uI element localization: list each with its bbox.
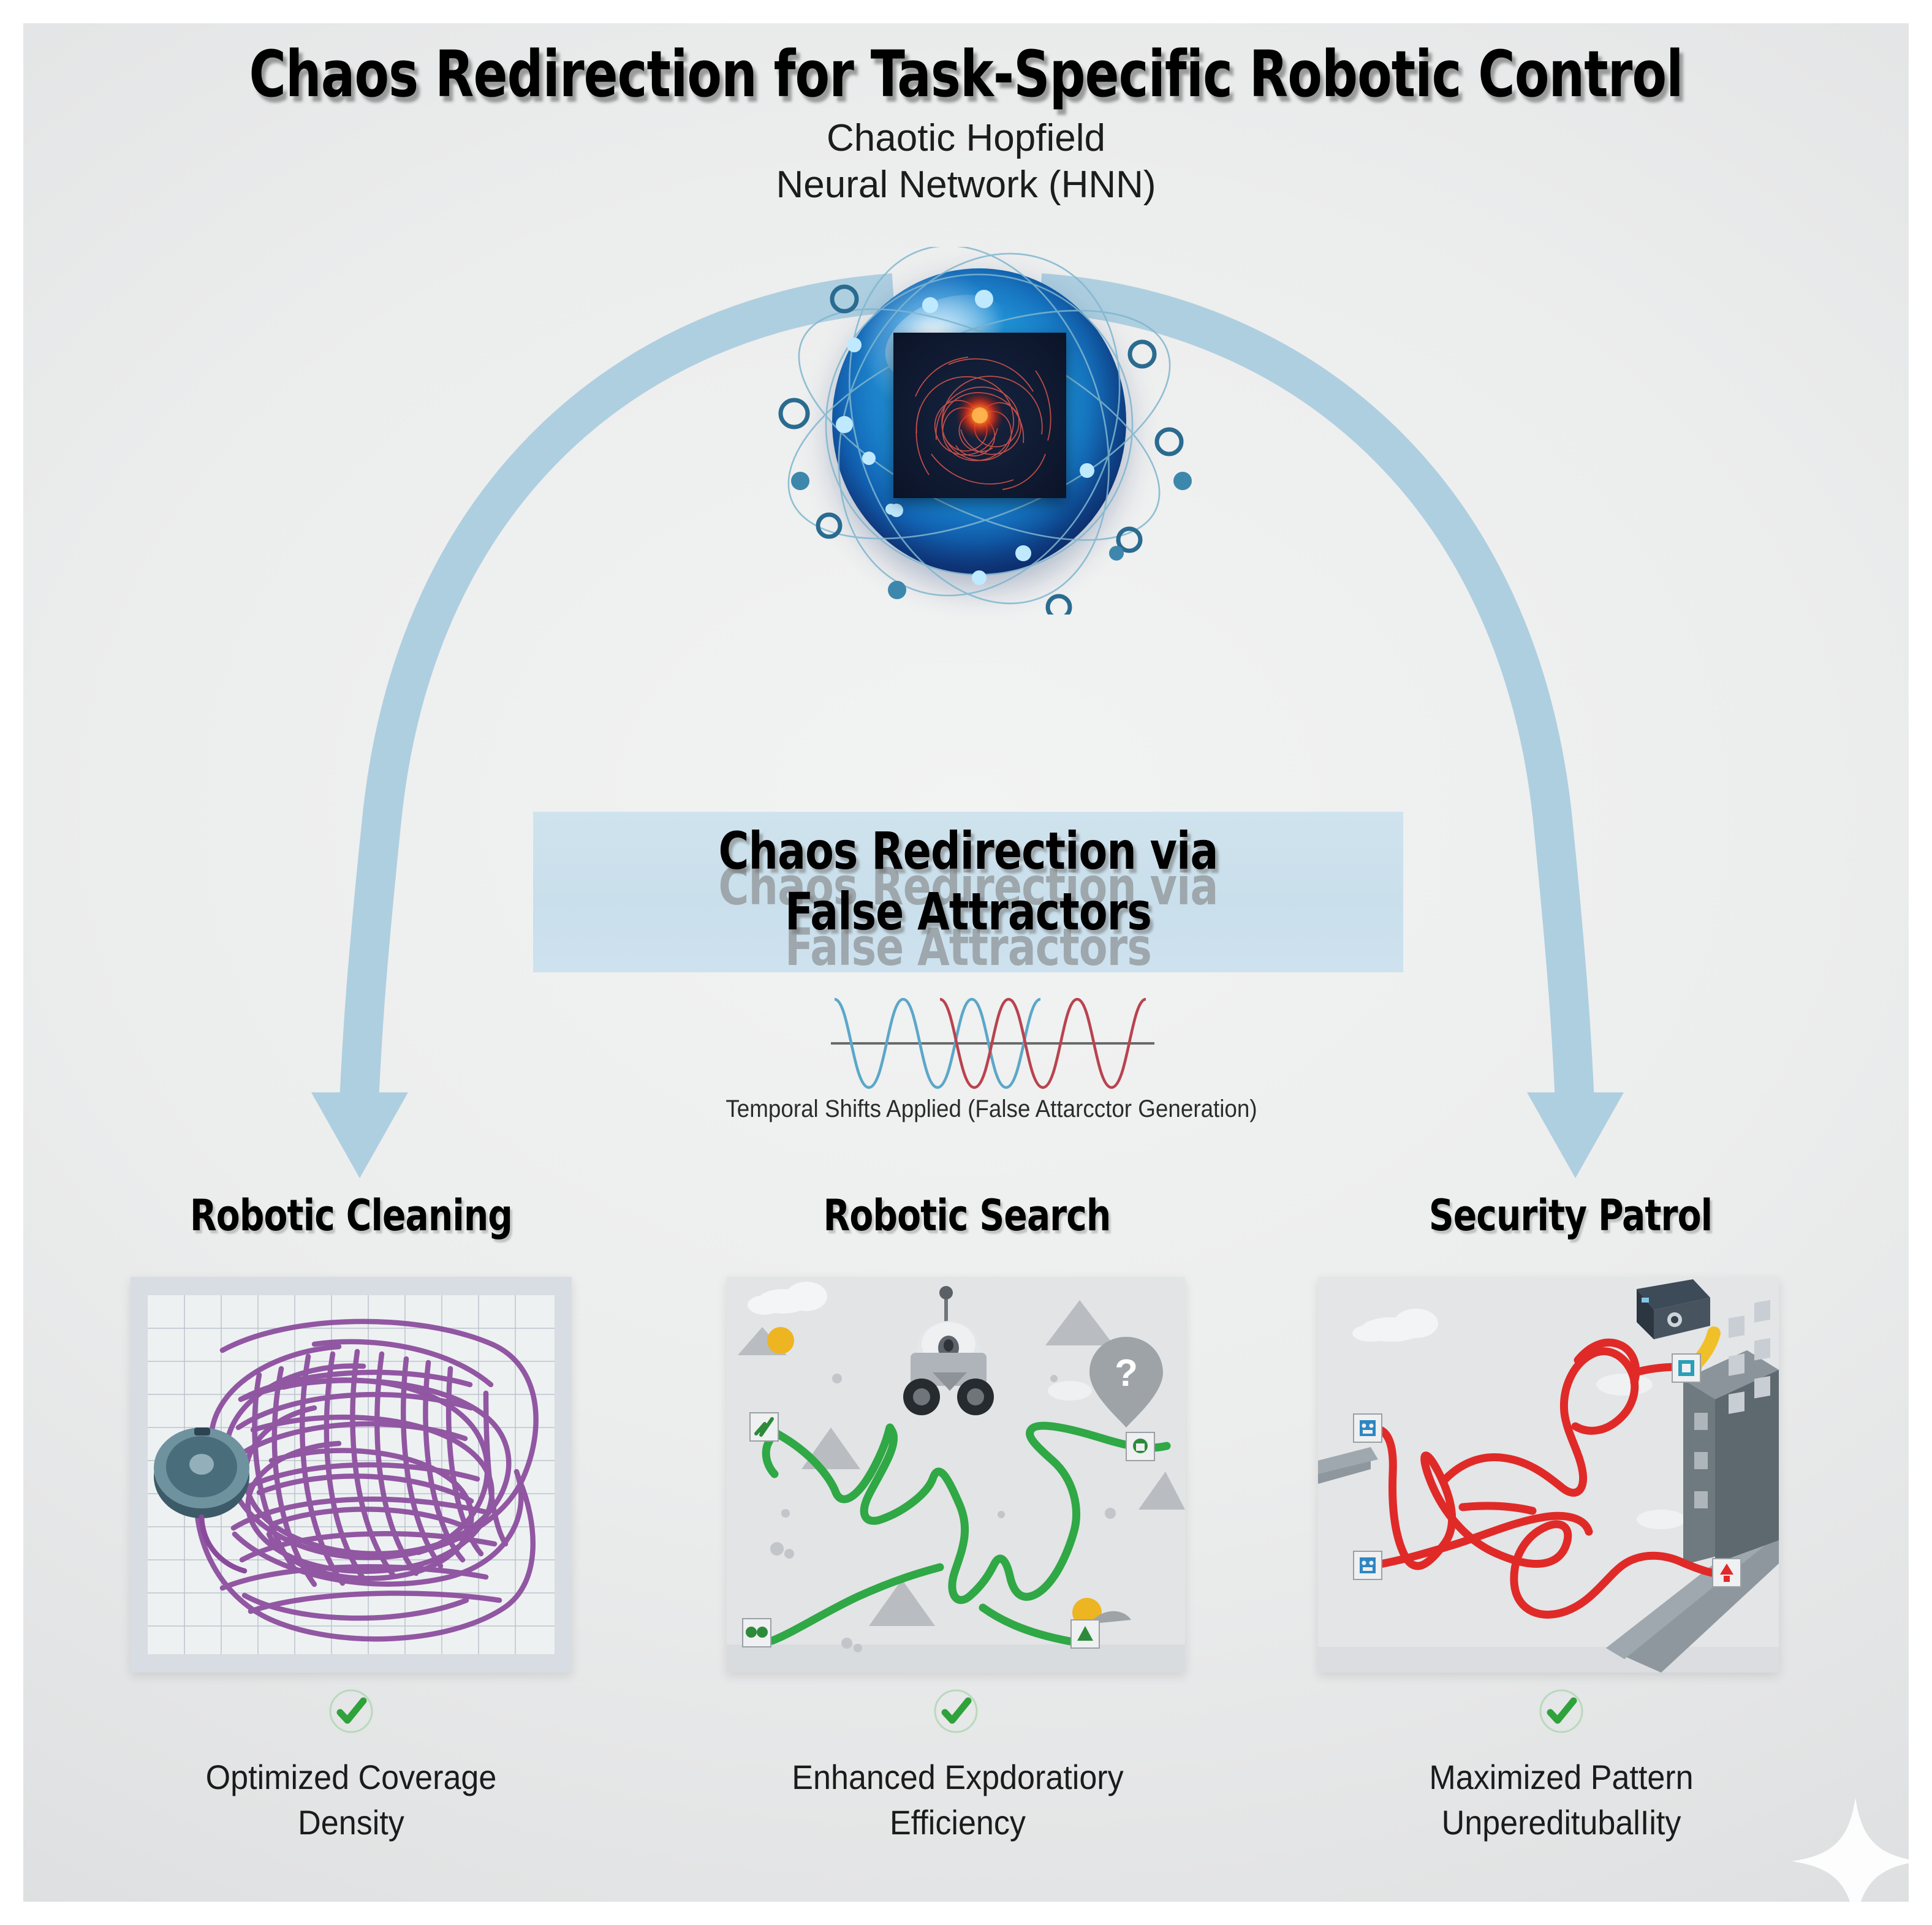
check-circle-icon-patrol <box>1537 1687 1586 1736</box>
banner-line2: False Attractors <box>785 882 1151 942</box>
sparkle-icon <box>1788 1794 1909 1902</box>
caption-line2: Efficiency <box>727 1800 1188 1845</box>
waypoint-marker <box>1672 1354 1700 1382</box>
source-node-label: Chaotic Hopfield Neural Network (HNN) <box>23 115 1909 208</box>
panel-robotic-cleaning <box>131 1277 572 1673</box>
source-label-line1: Chaotic Hopfield <box>827 117 1105 159</box>
middle-banner-title: Chaos Redirection via False Attractors <box>577 821 1360 942</box>
infographic-canvas: Chaos Redirection for Task-Specific Robo… <box>23 23 1909 1902</box>
wave-caption: Temporal Shifts Applied (False Attarccto… <box>664 1095 1318 1123</box>
caption-line1: Enhanced Expdoratiory <box>792 1758 1123 1796</box>
caption-line2: Density <box>120 1800 581 1845</box>
waypoint-marker <box>743 1619 771 1647</box>
panel-robotic-search: ? <box>727 1277 1185 1673</box>
waypoint-marker <box>1126 1432 1154 1461</box>
page-title: Chaos Redirection for Task-Specific Robo… <box>137 37 1796 112</box>
caption-robotic-search: Enhanced Expdoratiory Efficiency <box>727 1755 1188 1845</box>
column-title-robotic-search: Robotic Search <box>744 1190 1191 1241</box>
check-circle-icon-search <box>931 1687 980 1736</box>
column-title-robotic-cleaning: Robotic Cleaning <box>128 1190 575 1241</box>
waypoint-marker <box>1354 1551 1382 1579</box>
source-label-line2: Neural Network (HNN) <box>23 162 1909 208</box>
caption-line2: UnpereditubalIity <box>1330 1800 1792 1845</box>
caption-robotic-cleaning: Optimized Coverage Density <box>120 1755 581 1845</box>
caption-line1: Optimized Coverage <box>206 1758 497 1796</box>
check-circle-icon-cleaning <box>327 1687 376 1736</box>
vacuum-robot-icon <box>154 1428 249 1518</box>
panel-security-patrol <box>1318 1277 1779 1673</box>
caption-security-patrol: Maximized Pattern UnpereditubalIity <box>1330 1755 1792 1845</box>
waypoint-marker <box>1354 1414 1382 1442</box>
waypoint-marker <box>750 1413 778 1441</box>
caption-line1: Maximized Pattern <box>1429 1758 1693 1796</box>
column-title-security-patrol: Security Patrol <box>1347 1190 1794 1241</box>
phase-shifted-waves-icon <box>820 994 1163 1092</box>
banner-line1: Chaos Redirection via <box>719 821 1218 881</box>
chaotic-attractor-icon <box>893 333 1066 498</box>
waypoint-marker <box>1713 1559 1741 1587</box>
waypoint-marker <box>1071 1620 1099 1648</box>
svg-text:?: ? <box>1115 1352 1138 1394</box>
